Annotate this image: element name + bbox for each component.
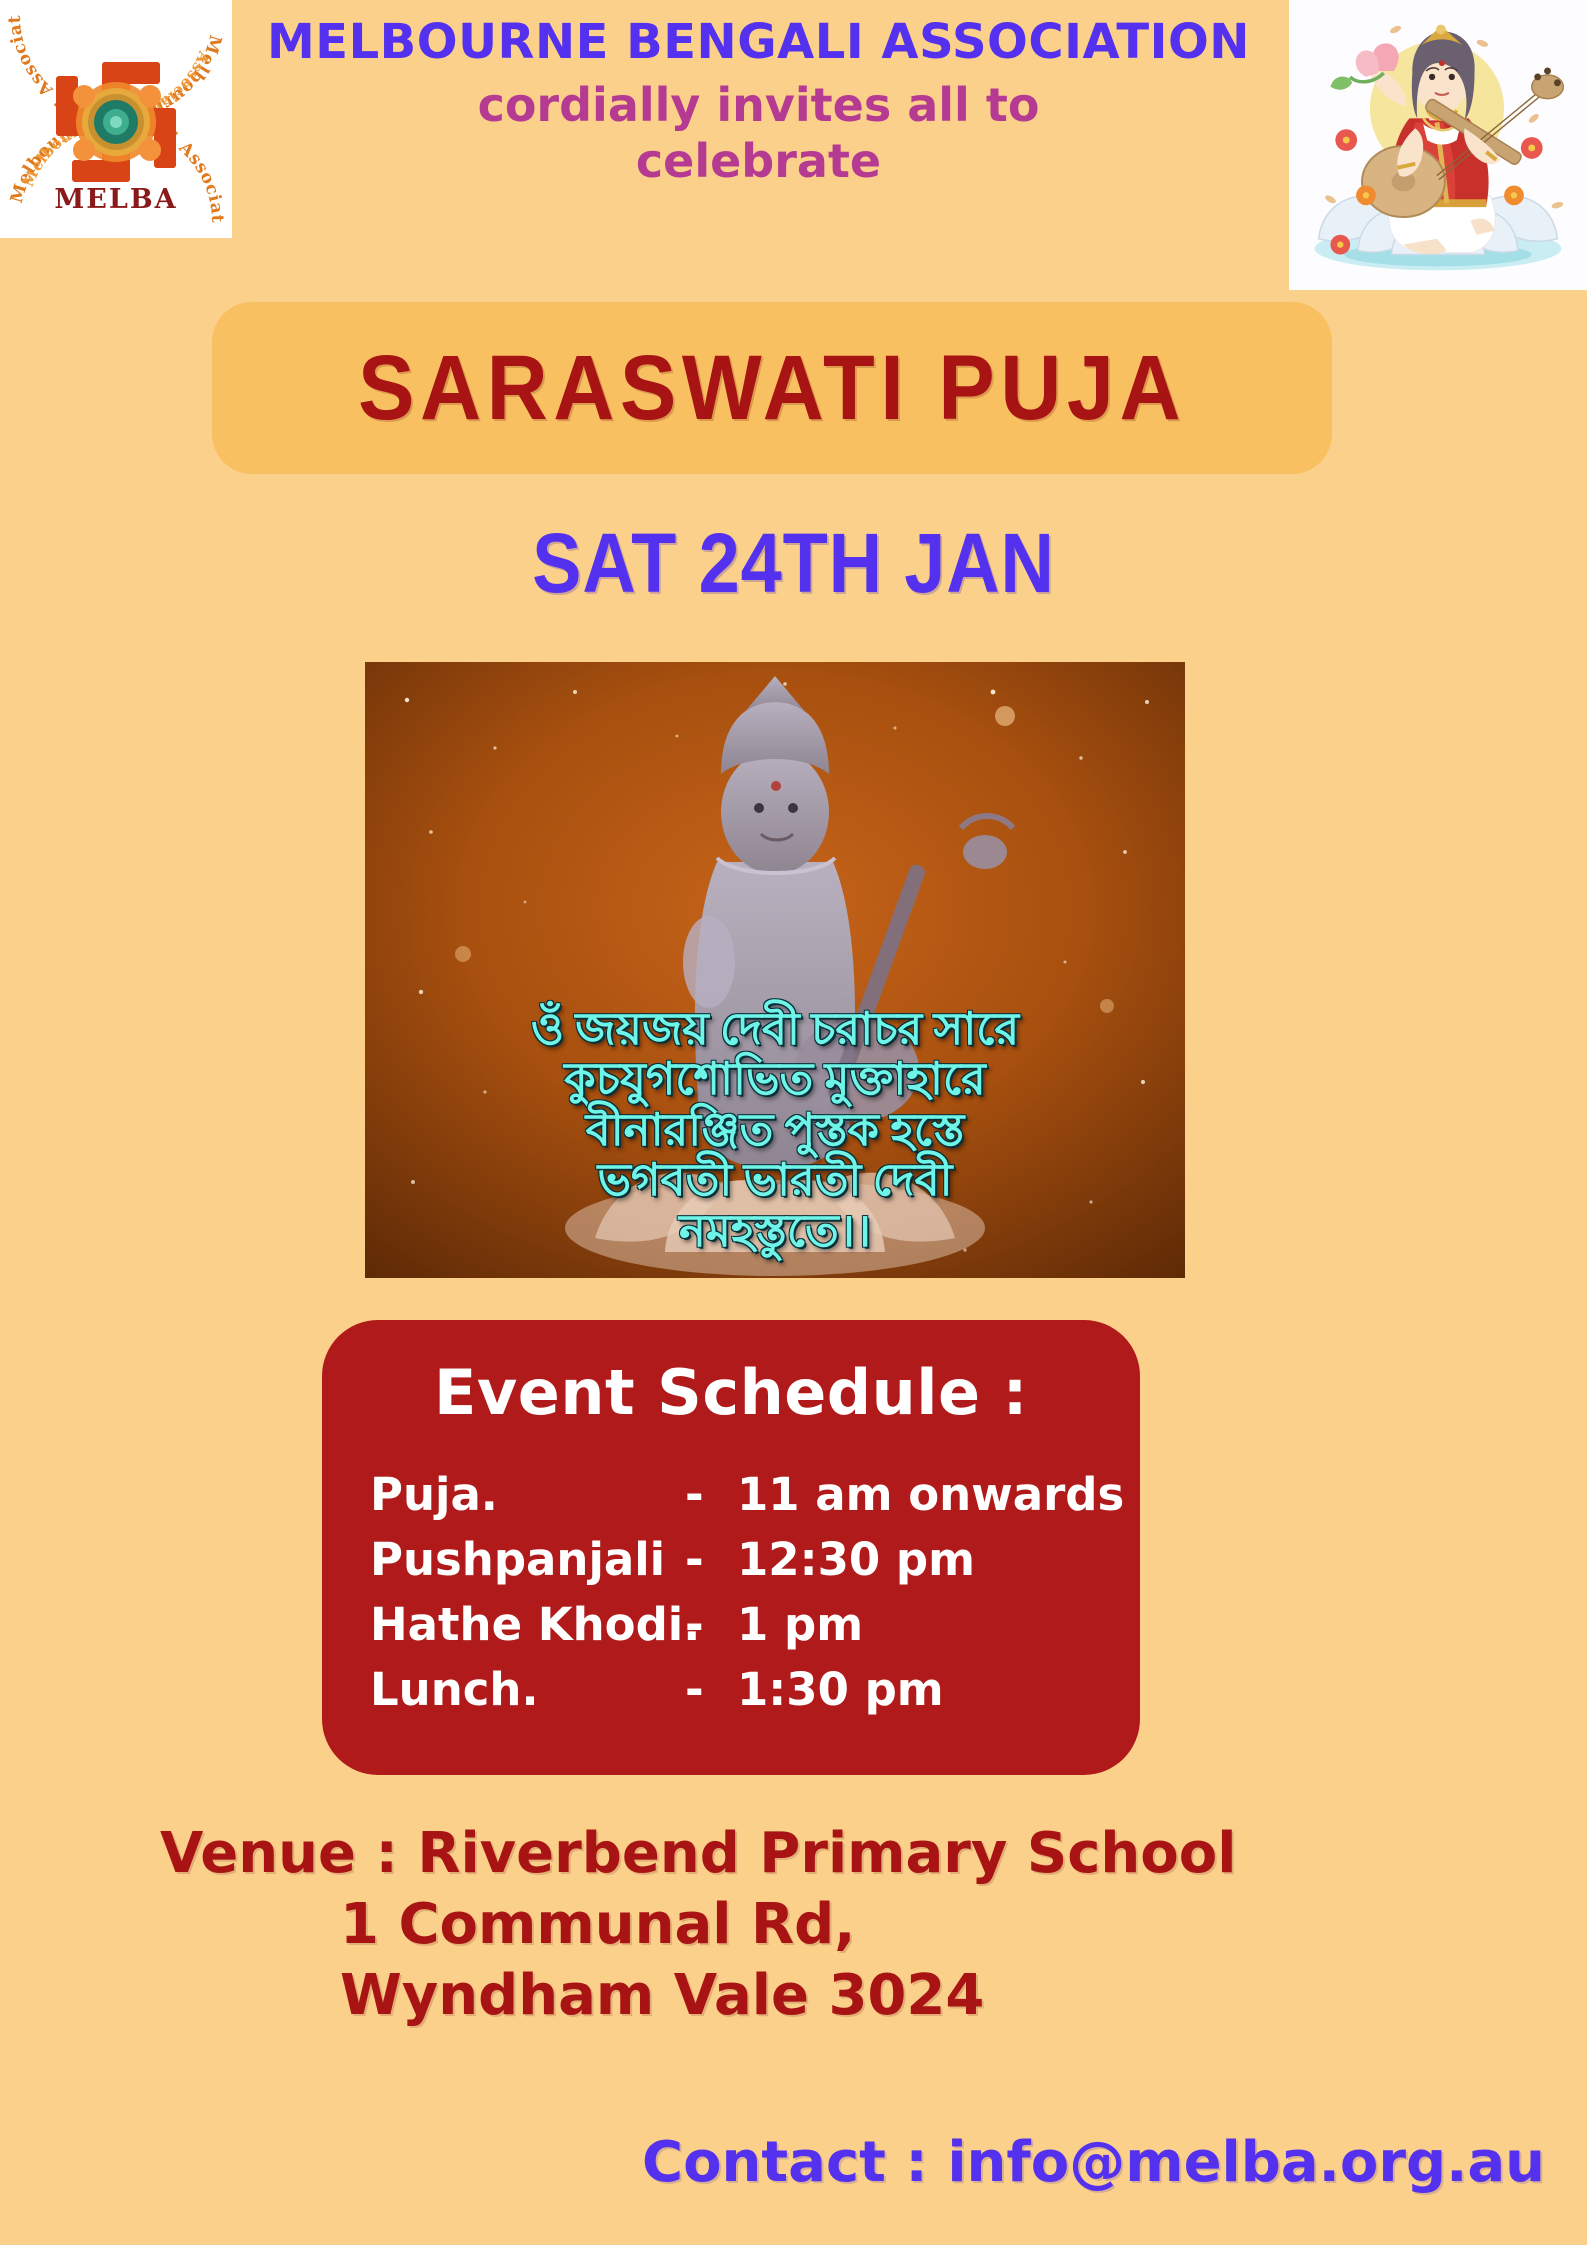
schedule-item-label: Hathe Khodi.: [370, 1598, 685, 1651]
schedule-item-dash: -: [685, 1533, 737, 1586]
venue-line-1: Venue : Riverbend Primary School: [150, 1818, 1330, 1889]
schedule-row: Pushpanjali - 12:30 pm: [370, 1533, 1110, 1598]
schedule-list: Puja. - 11 am onwards Pushpanjali - 12:3…: [370, 1468, 1110, 1728]
schedule-item-time: 1 pm: [737, 1598, 1110, 1651]
schedule-item-time: 12:30 pm: [737, 1533, 1110, 1586]
mantra-background-art: [365, 662, 1185, 1278]
schedule-item-time: 1:30 pm: [737, 1663, 1110, 1716]
saraswati-mantra-image: ওঁ জয়জয় দেবী চরাচর সারে কুচযুগশোভিত মু…: [365, 662, 1185, 1278]
svg-text:MELBA: MELBA: [54, 184, 177, 215]
venue-line-2: 1 Communal Rd,: [150, 1889, 1330, 1960]
schedule-row: Puja. - 11 am onwards: [370, 1468, 1110, 1533]
schedule-item-dash: -: [685, 1598, 737, 1651]
melba-logo-panel: Melbourne Bengali Association Melbourne …: [0, 0, 232, 238]
schedule-item-dash: -: [685, 1663, 737, 1716]
venue-block: Venue : Riverbend Primary School 1 Commu…: [150, 1818, 1330, 2031]
saraswati-puja-poster: Melbourne Bengali Association Melbourne …: [0, 0, 1587, 2245]
venue-line-3: Wyndham Vale 3024: [150, 1960, 1330, 2031]
invitation-line-1: cordially invites all to: [232, 78, 1285, 132]
saraswati-deity-icon: [1289, 0, 1587, 290]
schedule-item-time: 11 am onwards: [737, 1468, 1124, 1521]
event-date: SAT 24TH JAN: [95, 515, 1492, 612]
contact-email[interactable]: Contact : info@melba.org.au: [0, 2130, 1545, 2195]
event-title: SARASWATI PUJA: [358, 336, 1186, 441]
schedule-item-dash: -: [685, 1468, 737, 1521]
event-title-banner: SARASWATI PUJA: [212, 302, 1332, 474]
schedule-heading: Event Schedule :: [322, 1356, 1140, 1429]
schedule-item-label: Lunch.: [370, 1663, 685, 1716]
invitation-line-2: celebrate: [232, 134, 1285, 188]
melba-logo-icon: Melbourne Bengali Association Melbourne …: [0, 0, 232, 238]
schedule-item-label: Pushpanjali: [370, 1533, 685, 1586]
schedule-row: Hathe Khodi. - 1 pm: [370, 1598, 1110, 1663]
organization-title: MELBOURNE BENGALI ASSOCIATION: [232, 14, 1285, 70]
event-schedule-box: Event Schedule : Puja. - 11 am onwards P…: [322, 1320, 1140, 1775]
schedule-row: Lunch. - 1:30 pm: [370, 1663, 1110, 1728]
saraswati-illustration-panel: [1285, 0, 1587, 290]
schedule-item-label: Puja.: [370, 1468, 685, 1521]
